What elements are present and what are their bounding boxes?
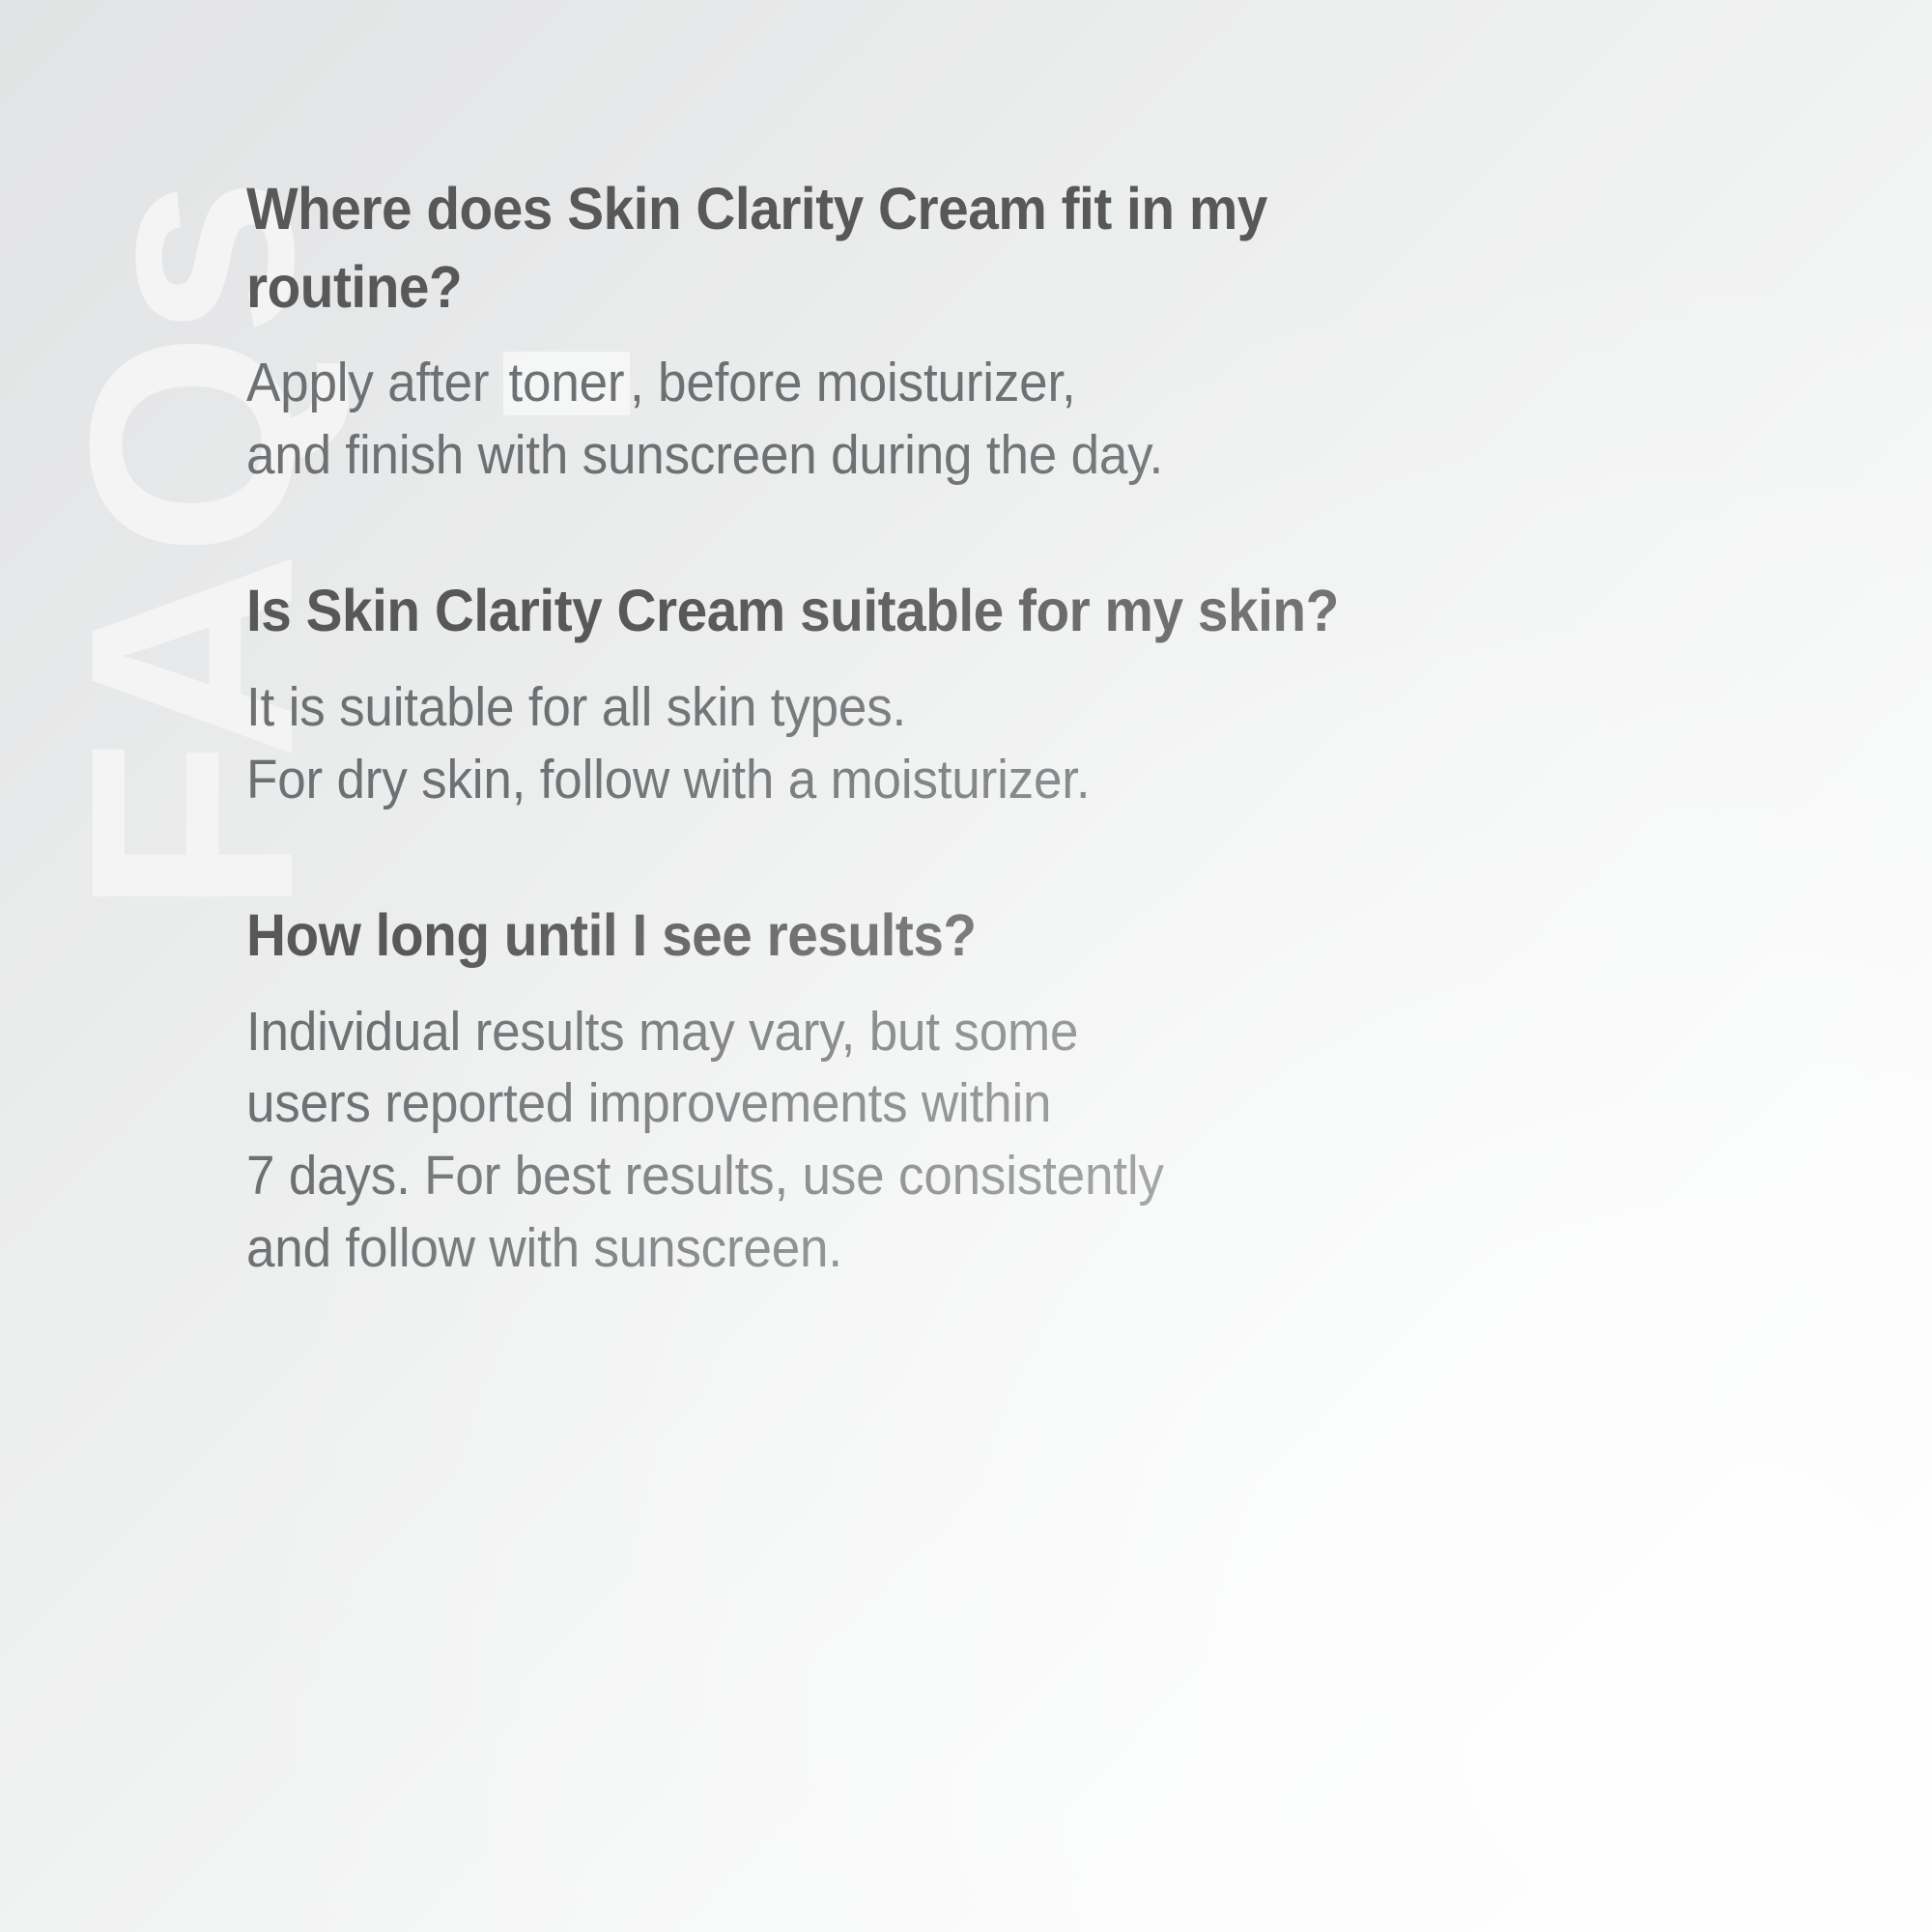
faq-answer-line: Individual results may vary, but some	[246, 996, 1380, 1068]
faq-item: Is Skin Clarity Cream suitable for my sk…	[246, 572, 1386, 815]
faq-list: Where does Skin Clarity Cream fit in my …	[246, 170, 1386, 1284]
faq-item: Where does Skin Clarity Cream fit in my …	[246, 170, 1386, 491]
highlighted-term-toner: toner	[503, 352, 630, 415]
faq-question: How long until I see results?	[246, 896, 1380, 975]
faq-answer-line: It is suitable for all skin types.	[246, 671, 1380, 744]
faq-answer-line: Apply after toner, before moisturizer,	[246, 347, 1380, 419]
answer-text-post: , before moisturizer,	[630, 352, 1076, 413]
faq-answer-line: and follow with sunscreen.	[246, 1212, 1380, 1285]
faq-item: How long until I see results? Individual…	[246, 896, 1386, 1284]
faq-question: Where does Skin Clarity Cream fit in my …	[246, 170, 1380, 326]
faq-question: Is Skin Clarity Cream suitable for my sk…	[246, 572, 1380, 650]
faq-answer-line: and finish with sunscreen during the day…	[246, 419, 1380, 492]
answer-text-pre: Apply after	[246, 352, 503, 413]
faq-answer: Individual results may vary, but some us…	[246, 996, 1380, 1285]
faq-slide: FAQs Where does Skin Clarity Cream fit i…	[0, 0, 1932, 1932]
faq-answer-line: 7 days. For best results, use consistent…	[246, 1140, 1380, 1212]
faq-answer-line: For dry skin, follow with a moisturizer.	[246, 744, 1380, 816]
faq-answer: It is suitable for all skin types. For d…	[246, 671, 1380, 815]
faq-answer-line: users reported improvements within	[246, 1067, 1380, 1140]
faq-answer: Apply after toner, before moisturizer, a…	[246, 347, 1380, 491]
